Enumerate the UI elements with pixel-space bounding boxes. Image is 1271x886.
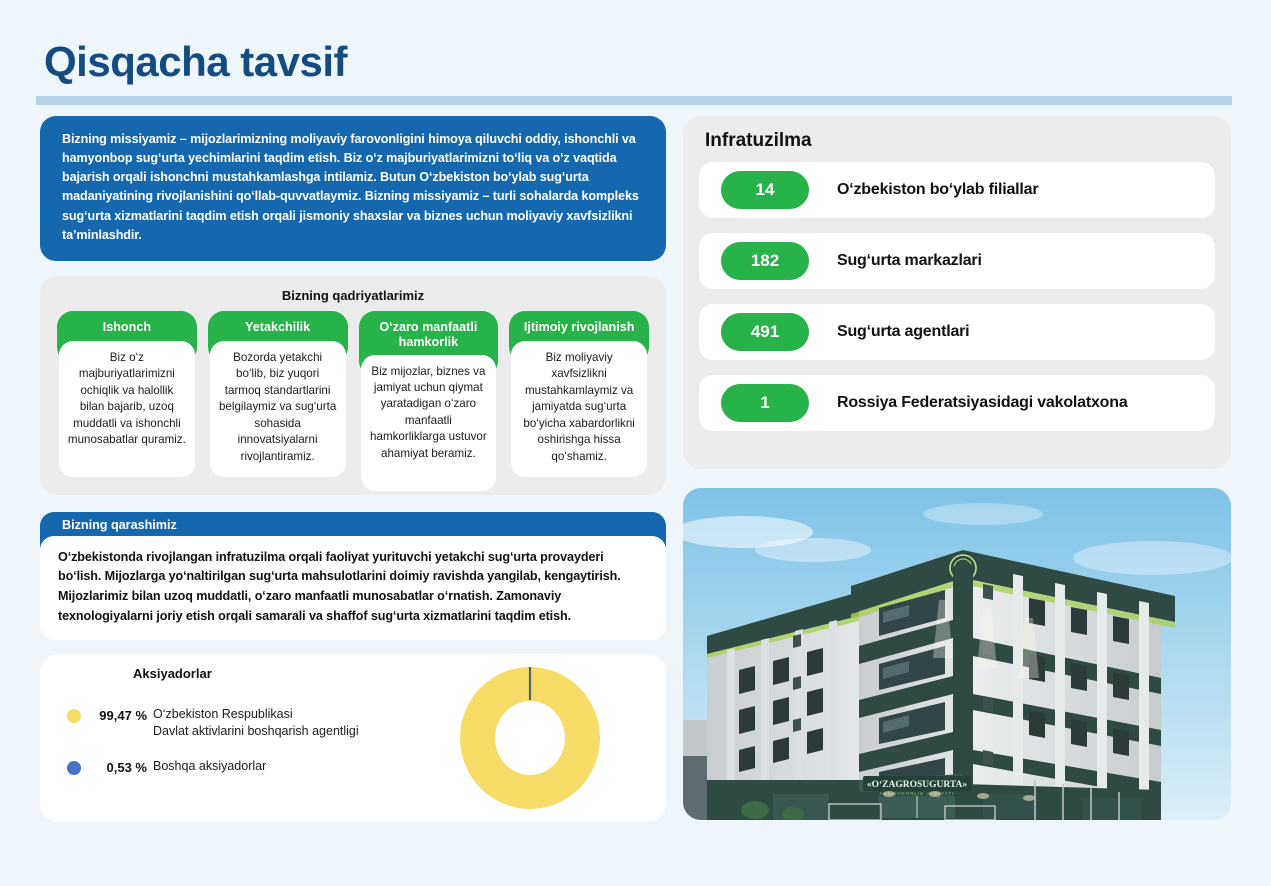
mission-statement-box: Bizning missiyamiz – mijozlarimizning mo… [40, 116, 666, 261]
shareholders-title: Aksiyadorlar [133, 666, 212, 681]
donut-hole [495, 701, 565, 775]
infrastructure-panel: Infratuzilma 14 O‘zbekiston bo‘ylab fili… [683, 116, 1231, 469]
value-card-text: Biz o‘z majburiyatlarimizni ochiqlik va … [59, 341, 195, 477]
legend-percent: 0,53 % [81, 760, 153, 775]
value-card-text: Biz moliyaviy xavfsizlikni mustahkamlaym… [511, 341, 647, 477]
building-signage-text: «O‘ZAGROSUGURTA» [867, 779, 968, 790]
infrastructure-item-vakolatxona: 1 Rossiya Federatsiyasidagi vakolatxona [699, 375, 1215, 431]
infrastructure-label: Sug‘urta agentlari [837, 323, 969, 341]
values-panel-title: Bizning qadriyatlarimiz [50, 288, 656, 303]
left-column: Bizning missiyamiz – mijozlarimizning mo… [40, 116, 666, 822]
infrastructure-item-markazlari: 182 Sug‘urta markazlari [699, 233, 1215, 289]
values-row: Ishonch Biz o‘z majburiyatlarimizni ochi… [50, 311, 656, 491]
right-column: Infratuzilma 14 O‘zbekiston bo‘ylab fili… [683, 116, 1231, 820]
building-illustration: S [683, 488, 1231, 820]
value-card-ishonch: Ishonch Biz o‘z majburiyatlarimizni ochi… [57, 311, 197, 477]
legend-item: 99,47 % O‘zbekiston Respublikasi Davlat … [67, 706, 359, 739]
legend-label: Boshqa aksiyadorlar [153, 758, 266, 774]
donut-chart [460, 667, 600, 814]
legend-percent: 99,47 % [81, 708, 153, 723]
infographic-page: Qisqacha tavsif Bizning missiyamiz – mij… [0, 0, 1271, 886]
value-card-text: Bozorda yetakchi bo‘lib, biz yuqori tarm… [210, 341, 346, 477]
mission-text: Bizning missiyamiz – mijozlarimizning mo… [62, 132, 639, 242]
infrastructure-value-pill: 182 [721, 242, 809, 280]
infrastructure-label: Rossiya Federatsiyasidagi vakolatxona [837, 394, 1128, 412]
title-divider [36, 96, 1232, 105]
legend-item: 0,53 % Boshqa aksiyadorlar [67, 758, 266, 775]
headquarters-building-photo: S [683, 488, 1231, 820]
value-card-yetakchilik: Yetakchilik Bozorda yetakchi bo‘lib, biz… [208, 311, 348, 477]
legend-color-swatch-blue [67, 761, 81, 775]
legend-label: O‘zbekiston Respublikasi Davlat aktivlar… [153, 706, 359, 739]
infrastructure-item-agentlari: 491 Sug‘urta agentlari [699, 304, 1215, 360]
shareholders-card: Aksiyadorlar 99,47 % O‘zbekiston Respubl… [40, 654, 666, 822]
infrastructure-label: Sug‘urta markazlari [837, 252, 982, 270]
value-card-ozaro-manfaatli-hamkorlik: O‘zaro manfaatli hamkorlik Biz mijozlar,… [359, 311, 499, 491]
vision-text: O‘zbekistonda rivojlangan infratuzilma o… [40, 536, 666, 641]
infrastructure-value-pill: 1 [721, 384, 809, 422]
infrastructure-value-pill: 14 [721, 171, 809, 209]
page-title: Qisqacha tavsif [44, 38, 347, 86]
values-panel: Bizning qadriyatlarimiz Ishonch Biz o‘z … [40, 276, 666, 495]
value-card-text: Biz mijozlar, biznes va jamiyat uchun qi… [361, 355, 497, 491]
infrastructure-label: O‘zbekiston bo‘ylab filiallar [837, 181, 1038, 199]
infrastructure-value-pill: 491 [721, 313, 809, 351]
infrastructure-item-filiallar: 14 O‘zbekiston bo‘ylab filiallar [699, 162, 1215, 218]
infrastructure-title: Infratuzilma [705, 130, 1215, 152]
vision-section: Bizning qarashimiz O‘zbekistonda rivojla… [40, 512, 666, 641]
donut-slice-minority [529, 667, 531, 700]
legend-color-swatch-yellow [67, 709, 81, 723]
value-card-ijtimoiy-rivojlanish: Ijtimoiy rivojlanish Biz moliyaviy xavfs… [509, 311, 649, 477]
